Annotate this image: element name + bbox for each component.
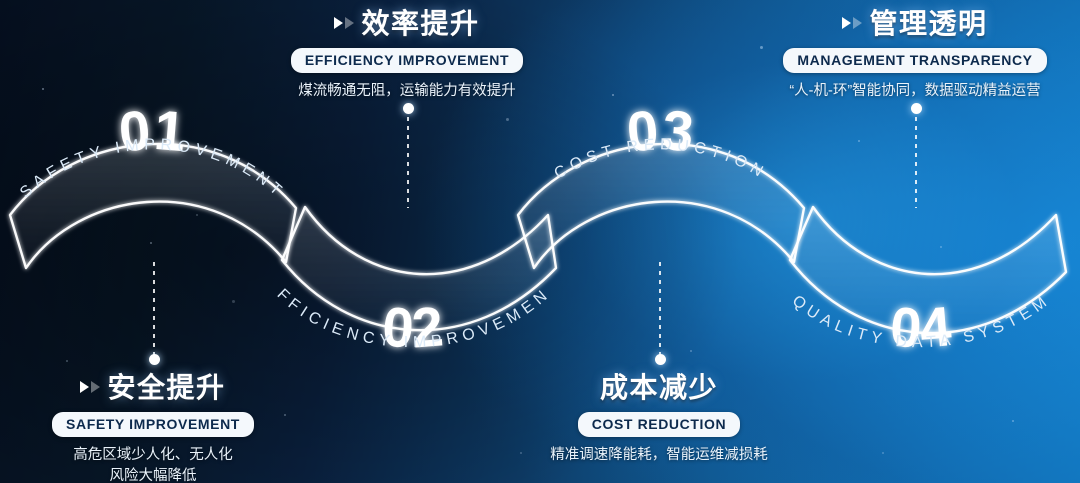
infographic-canvas: 01 SAFETY IMPROVEMENT 02 EFFICIENCY IMPR… (0, 0, 1080, 483)
double-arrow-icon (334, 17, 354, 29)
connector-line-cost (659, 262, 661, 360)
double-arrow-icon (842, 17, 862, 29)
callout-description: “人-机-环”智能协同，数据驱动精益运营 (735, 81, 1080, 102)
callout-title-row: 效率提升 (237, 2, 577, 42)
callout-title-en-badge: EFFICIENCY IMPROVEMENT (291, 48, 523, 73)
double-arrow-icon (80, 381, 100, 393)
connector-line-efficiency (407, 108, 409, 208)
connector-dot (403, 103, 414, 114)
callout-cost-reduction[interactable]: 成本减少 COST REDUCTION 精准调速降能耗，智能运维减损耗 (492, 366, 826, 466)
callout-title-en-badge: COST REDUCTION (578, 412, 740, 437)
connector-dot (149, 354, 160, 365)
callout-title-row: 安全提升 (0, 366, 318, 406)
callout-efficiency-improvement[interactable]: 效率提升 EFFICIENCY IMPROVEMENT 煤流畅通无阻，运输能力有… (237, 2, 577, 102)
callout-title-row: 管理透明 (735, 2, 1080, 42)
connector-line-safety (153, 262, 155, 360)
callout-title-en-badge: SAFETY IMPROVEMENT (52, 412, 254, 437)
connector-dot (911, 103, 922, 114)
callout-description: 精准调速降能耗，智能运维减损耗 (492, 445, 826, 466)
callout-description: 高危区域少人化、无人化 风险大幅降低 (0, 445, 318, 483)
connector-line-management (915, 108, 917, 208)
callout-management-transparency[interactable]: 管理透明 MANAGEMENT TRANSPARENCY “人-机-环”智能协同… (735, 2, 1080, 102)
callout-title-en-badge: MANAGEMENT TRANSPARENCY (783, 48, 1046, 73)
callout-title-cn: 安全提升 (107, 366, 225, 406)
callout-title-cn: 成本减少 (600, 366, 718, 406)
callout-safety-improvement[interactable]: 安全提升 SAFETY IMPROVEMENT 高危区域少人化、无人化 风险大幅… (0, 366, 318, 483)
callout-title-cn: 管理透明 (869, 2, 987, 42)
connector-dot (655, 354, 666, 365)
callout-title-row: 成本减少 (492, 366, 826, 406)
callout-description: 煤流畅通无阻，运输能力有效提升 (237, 81, 577, 102)
callout-title-cn: 效率提升 (361, 2, 479, 42)
